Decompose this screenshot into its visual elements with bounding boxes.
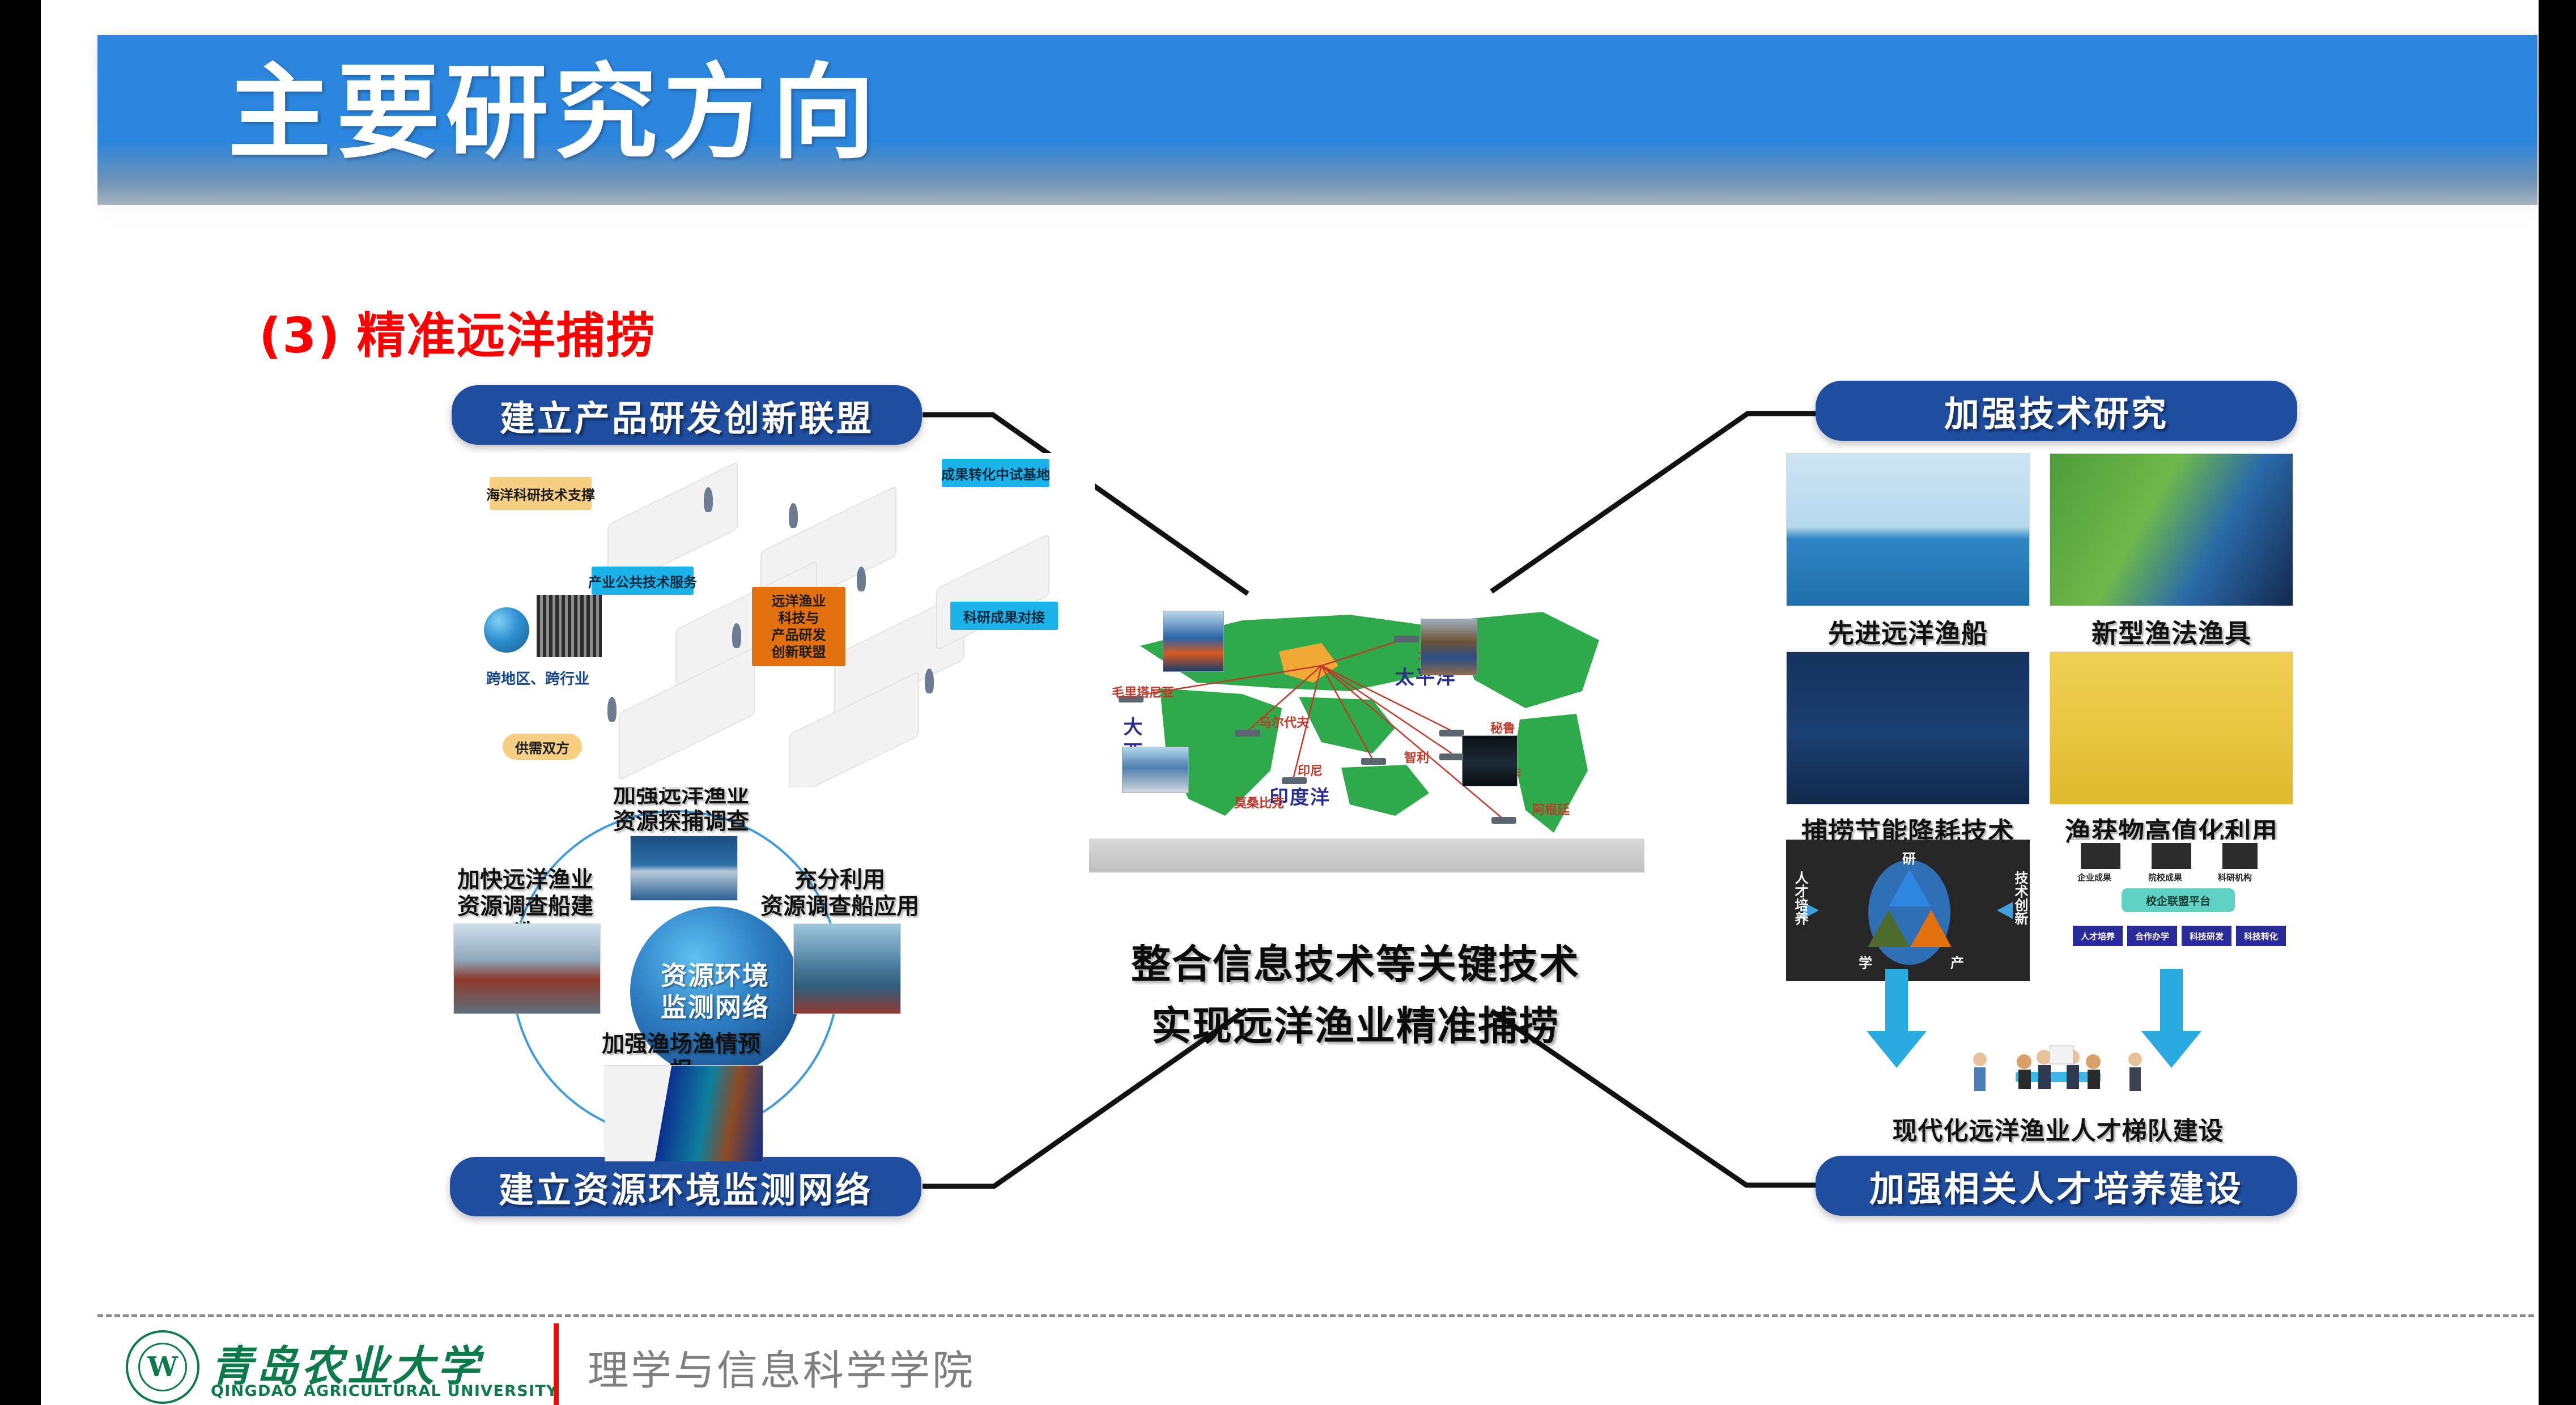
iso-label-public-tech-service: 产业公共技术服务 [592,567,694,595]
iso-label-supply-demand: 供需双方 [503,734,582,760]
alliance-output-coop: 合作办学 [2127,926,2177,946]
alliance-source-enterprise: 企业成果 [2077,871,2111,883]
iso-label-center-alliance: 远洋渔业 科技与 产品研发 创新联盟 [752,587,845,666]
talent-section-caption: 现代化远洋渔业人才梯队建设 [1814,1110,2302,1147]
world-map-fishing-routes: 太平洋 大西洋 印度洋 北太平洋 毛里塔尼亚 马尔代夫 印尼 智利 秘鲁 南非 … [1055,567,1667,884]
banner-establish-resource-monitoring-network[interactable]: 建立资源环境监测网络 [450,1157,921,1216]
iso-label-incubation-base: 成果转化中试基地 [942,459,1049,487]
alliance-source-institute: 科研机构 [2218,871,2252,883]
seal-monogram: W [138,1343,187,1391]
tech-photo-new-fishing-gear [2050,453,2293,606]
map-thumb-top-left [1163,611,1224,672]
resource-monitoring-circle-diagram: 资源环境 监测网络 加强远洋渔业 资源探捕调查 加快远洋渔业 资源调查船建造 充… [437,787,1095,1161]
port-label-chile: 智利 [1404,748,1429,766]
port-label-mauritania: 毛里塔尼亚 [1112,683,1174,701]
banner-establish-product-rd-alliance[interactable]: 建立产品研发创新联盟 [452,385,922,445]
center-statement: 整合信息技术等关键技术 实现远洋渔业精准捕捞 [1123,934,1588,1057]
iso-label-marine-research-support: 海洋科研技术支撑 [490,477,592,510]
iso-label-cross-region-industry: 跨地区、跨行业 [490,667,586,688]
globe-icon [484,607,529,653]
iso-center-line-2: 科技与 [779,610,819,627]
tech-photo-high-value-utilization [2050,652,2293,804]
circle-core-line-1: 资源环境 [661,960,770,991]
alliance-output-transfer: 科技转化 [2236,926,2286,946]
map-thumb-bottom-right [1462,735,1517,786]
center-statement-line-2: 实现远洋渔业精准捕捞 [1123,995,1588,1057]
circle-node-top-line-1: 加强远洋渔业 [599,787,763,808]
circle-node-caption-top: 加强远洋渔业 资源探捕调查 [599,787,763,835]
isometric-innovation-alliance-diagram: 海洋科研技术支撑 产业公共技术服务 跨地区、跨行业 供需双方 高端人才聚集平台 … [437,453,1095,787]
circle-node-image-bottom [605,1065,763,1161]
footer-divider [97,1314,2534,1317]
port-label-peru: 秘鲁 [1490,718,1515,736]
circle-node-right-line-2: 资源调查船应用 [755,893,925,920]
talent-triangle-panel: 研 人才培养 技术创新 学 产 [1786,840,2030,981]
university-seal-logo: W [126,1330,199,1404]
talent-label-innovation: 技术创新 [2010,871,2030,925]
circle-core-line-2: 监测网络 [661,991,770,1023]
map-thumb-top-right [1421,619,1477,675]
banner-strengthen-technology-research[interactable]: 加强技术研究 [1816,381,2297,441]
talent-label-cultivation: 人才培养 [1791,871,1810,925]
circle-node-left-line-1: 加快远洋渔业 [449,867,602,893]
map-thumb-bottom-left [1122,747,1189,793]
port-label-maldives: 马尔代夫 [1259,713,1309,731]
tech-caption-advanced-vessel: 先进远洋渔船 [1786,613,2030,650]
iso-label-results-matching: 科研成果对接 [950,602,1058,630]
circle-node-image-top [630,836,738,901]
footer-red-divider [554,1323,559,1405]
circle-node-image-left [453,923,601,1014]
circle-node-caption-right: 充分利用 资源调查船应用 [755,867,925,920]
circle-node-right-line-1: 充分利用 [755,867,925,893]
world-map-svg [1055,567,1667,884]
slide-canvas: 主要研究方向 (3)精准远洋捕捞 建立产品研发创新联盟 建立资源环境监测网络 加… [41,0,2539,1405]
college-name: 理学与信息科学学院 [588,1337,975,1397]
circle-node-top-line-2: 资源探捕调查 [599,808,763,835]
talent-label-research: 研 [1902,848,1916,867]
tech-photo-energy-saving [1786,652,2030,804]
alliance-platform: 校企联盟平台 [2122,888,2235,912]
talent-meeting-illustration [1967,1042,2149,1105]
port-label-argentina: 阿根廷 [1532,800,1570,818]
iso-center-line-1: 远洋渔业 [772,593,826,610]
alliance-output-rd: 科技研发 [2182,926,2231,946]
alliance-source-college: 院校成果 [2148,871,2182,883]
banner-strengthen-talent-training[interactable]: 加强相关人才培养建设 [1816,1156,2297,1216]
school-enterprise-alliance-panel: 企业成果 院校成果 科研机构 校企联盟平台 人才培养 合作办学 科技研发 科技转… [2069,840,2296,981]
tech-caption-new-fishing-gear: 新型渔法渔具 [2050,613,2293,650]
iso-center-line-4: 创新联盟 [772,644,826,661]
iso-center-line-3: 产品研发 [772,627,826,644]
port-label-indonesia: 印尼 [1298,761,1323,779]
port-label-mozambique: 莫桑比克 [1234,793,1284,811]
center-statement-line-1: 整合信息技术等关键技术 [1123,934,1588,995]
university-name-en: QINGDAO AGRICULTURAL UNIVERSITY [211,1382,558,1400]
tech-photo-advanced-vessel [1786,453,2030,606]
alliance-output-talent: 人才培养 [2073,926,2123,946]
circle-node-image-right [793,923,901,1014]
